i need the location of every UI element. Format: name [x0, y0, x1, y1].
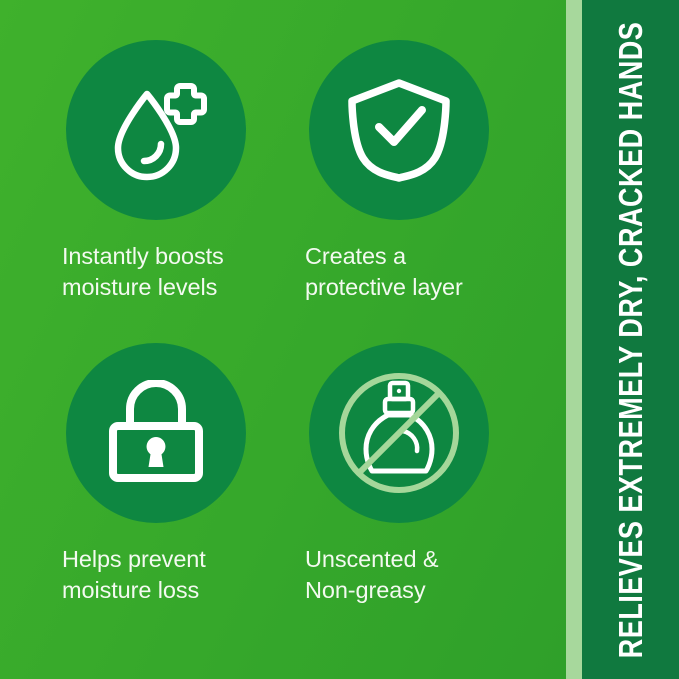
shield-check-icon	[343, 74, 455, 186]
no-fragrance-bottle-icon	[335, 369, 463, 497]
padlock-icon	[103, 380, 209, 486]
icon-circle	[66, 40, 246, 220]
feature-label: Creates a protective layer	[305, 241, 463, 304]
icon-circle	[309, 40, 489, 220]
feature-label: Unscented & Non-greasy	[305, 544, 438, 607]
feature-item-creates-a-protective-layer: Creates a protective layer	[291, 40, 542, 343]
feature-grid: Instantly boosts moisture levels Creates…	[0, 0, 566, 679]
side-banner-text-rotated: RELIEVES EXTREMELY DRY, CRACKED HANDS	[612, 0, 650, 679]
icon-circle	[66, 343, 246, 523]
feature-label: Helps prevent moisture loss	[62, 544, 206, 607]
icon-circle	[309, 343, 489, 523]
vertical-accent-stripe	[566, 0, 582, 679]
side-banner-label: RELIEVES EXTREMELY DRY, CRACKED HANDS	[612, 21, 650, 658]
feature-item-unscented-and-non-greasy: Unscented & Non-greasy	[291, 343, 542, 646]
product-feature-graphic: Instantly boosts moisture levels Creates…	[0, 0, 679, 679]
water-drop-plus-icon	[98, 72, 214, 188]
feature-label: Instantly boosts moisture levels	[62, 241, 224, 304]
features-panel: Instantly boosts moisture levels Creates…	[0, 0, 566, 679]
feature-item-instantly-boosts-moisture-levels: Instantly boosts moisture levels	[40, 40, 291, 343]
side-banner: RELIEVES EXTREMELY DRY, CRACKED HANDS	[582, 0, 679, 679]
feature-item-helps-prevent-moisture-loss: Helps prevent moisture loss	[40, 343, 291, 646]
